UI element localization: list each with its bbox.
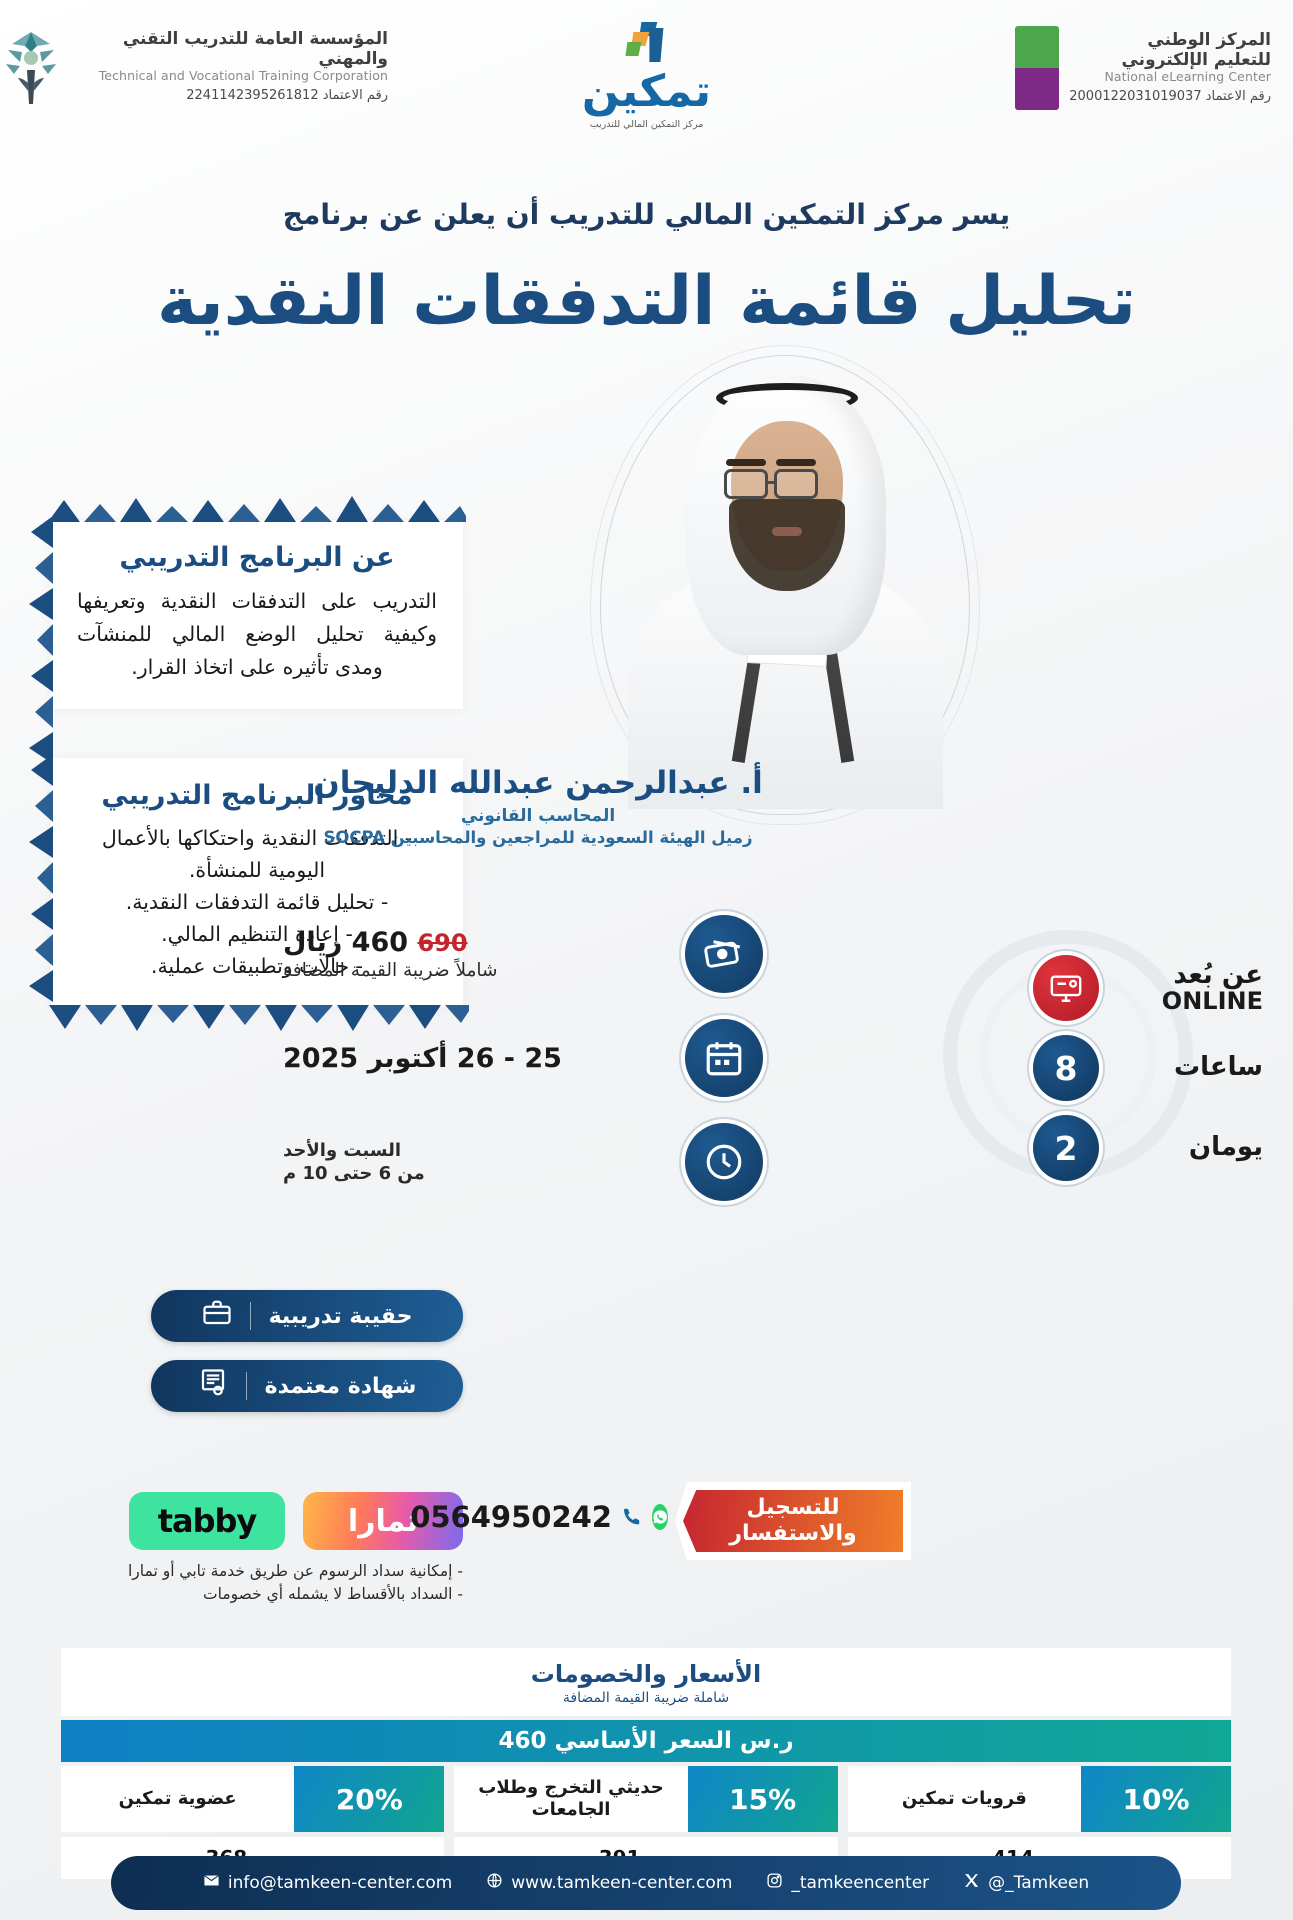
nelc-name-en: National eLearning Center (1069, 70, 1271, 84)
discount-value: 20% (294, 1766, 444, 1832)
nelc-logo-block: المركز الوطني للتعليم الإلكتروني Nationa… (1015, 26, 1271, 110)
footer-email[interactable]: info@tamkeen-center.com (203, 1872, 452, 1894)
tamkeen-wordmark: تمكين (582, 66, 711, 117)
training-kit-pill[interactable]: حقيبة تدريبية (151, 1290, 463, 1342)
tvtc-name-ar: المؤسسة العامة للتدريب التقني والمهني (72, 30, 388, 69)
phone-number[interactable]: 0564950242 (410, 1500, 612, 1534)
clock-icon (685, 1123, 763, 1201)
footer-instagram-handle: _tamkeencenter (791, 1873, 929, 1893)
badge-online-label: عن بُعد (1173, 960, 1263, 990)
badge-hours: ساعات 8 (1033, 1035, 1263, 1101)
trainer-name: أ. عبدالرحمن عبدالله الدليجان (303, 765, 773, 801)
price-table-subtitle: شاملة ضريبة القيمة المضافة (61, 1690, 1231, 1706)
footer-x-handle: @_Tamkeen (988, 1873, 1089, 1893)
footer-website[interactable]: www.tamkeen-center.com (486, 1872, 732, 1894)
envelope-icon (203, 1872, 220, 1894)
header: المؤسسة العامة للتدريب التقني والمهني Te… (0, 0, 1293, 150)
register-label-2: والاستفسار (729, 1521, 856, 1547)
badge-hours-label: ساعات (1113, 1054, 1263, 1081)
price-note: شاملاً ضريبة القيمة المضافة (283, 960, 669, 981)
program-details: 690 460 ريال شاملاً ضريبة القيمة المضافة… (283, 915, 763, 1227)
monitor-icon (1033, 955, 1099, 1021)
discount-value: 15% (688, 1766, 838, 1832)
trainer-organization: زميل الهيئة السعودية للمراجعين والمحاسبي… (303, 828, 773, 847)
register-button[interactable]: للتسجيل والاستفسار (683, 1490, 903, 1552)
briefcase-icon (202, 1298, 232, 1334)
price-old: 690 (417, 929, 467, 957)
tvtc-logo-block: المؤسسة العامة للتدريب التقني والمهني Te… (0, 26, 388, 108)
certificate-label: شهادة معتمدة (265, 1374, 417, 1399)
money-icon (685, 915, 763, 993)
page-title: تحليل قائمة التدفقات النقدية (0, 262, 1293, 341)
payment-options: تمارا tabby - إمكانية سداد الرسوم عن طري… (43, 1492, 463, 1607)
footer-x[interactable]: @_Tamkeen (963, 1872, 1089, 1894)
nelc-name-ar-2: للتعليم الإلكتروني (1069, 51, 1271, 71)
footer-instagram[interactable]: _tamkeencenter (766, 1872, 929, 1894)
riyal-symbol: ر.س (740, 1728, 794, 1754)
certificate-icon (198, 1368, 228, 1404)
tvtc-emblem-icon (0, 26, 62, 108)
tabby-logo[interactable]: tabby (129, 1492, 285, 1550)
price-new: 460 ريال (283, 927, 408, 958)
training-kit-label: حقيبة تدريبية (269, 1304, 413, 1329)
instagram-icon (766, 1872, 783, 1894)
about-heading: عن البرنامج التدريبي (77, 542, 437, 573)
certificate-pill[interactable]: شهادة معتمدة (151, 1360, 463, 1412)
time-days: السبت والأحد (283, 1139, 669, 1162)
badge-hours-value: 8 (1033, 1035, 1099, 1101)
payment-note: - السداد بالأقساط لا يشمله أي خصومات (43, 1583, 463, 1606)
date-row: 25 - 26 أكتوبر 2025 (283, 1019, 763, 1097)
price-row: 690 460 ريال شاملاً ضريبة القيمة المضافة (283, 915, 763, 993)
whatsapp-icon[interactable] (652, 1504, 668, 1530)
nelc-accreditation: رقم الاعتماد 2000122031019037 (1069, 90, 1271, 105)
tvtc-name-en: Technical and Vocational Training Corpor… (72, 69, 388, 83)
discount-name: حديثي التخرج وطلاب الجامعات (454, 1766, 687, 1832)
badge-days: يومان 2 (1033, 1115, 1263, 1181)
nelc-name-ar-1: المركز الوطني (1069, 31, 1271, 51)
zigzag-left-decoration-2 (19, 754, 53, 1004)
footer-website-url: www.tamkeen-center.com (511, 1873, 732, 1893)
nelc-emblem-icon (1015, 26, 1059, 110)
x-icon (963, 1872, 980, 1894)
calendar-icon (685, 1019, 763, 1097)
payment-note: - إمكانية سداد الرسوم عن طريق خدمة تابي … (43, 1560, 463, 1583)
phone-icon[interactable] (621, 1504, 643, 1530)
contact-phone[interactable]: 0564950242 (488, 1500, 668, 1534)
badge-days-value: 2 (1033, 1115, 1099, 1181)
footer-contact-bar: @_Tamkeen _tamkeencenter www.tamkeen-cen… (111, 1856, 1181, 1910)
discount-name: عضوية تمكين (61, 1766, 294, 1832)
about-program-card: عن البرنامج التدريبي التدريب على التدفقا… (51, 520, 463, 709)
date-value: 25 - 26 أكتوبر 2025 (283, 1043, 669, 1074)
badge-days-label: يومان (1113, 1134, 1263, 1161)
price-table: الأسعار والخصومات شاملة ضريبة القيمة الم… (61, 1648, 1231, 1879)
discount-value: 10% (1081, 1766, 1231, 1832)
price-table-title: الأسعار والخصومات (61, 1660, 1231, 1688)
badge-stack: عن بُعد ONLINE ساعات 8 يومان 2 (1033, 955, 1263, 1195)
trainer-photo (600, 355, 970, 815)
tamkeen-logo: تمكين مركز التمكين المالي للتدريب (582, 20, 711, 130)
discount-name: قرويات تمكين (848, 1766, 1081, 1832)
globe-icon (486, 1872, 503, 1894)
base-price-label: السعر الأساسي 460 (498, 1728, 731, 1754)
footer-email-address: info@tamkeen-center.com (228, 1873, 452, 1893)
about-body: التدريب على التدفقات النقدية وتعريفها وك… (77, 585, 437, 685)
zigzag-left-decoration (19, 516, 53, 766)
announcement-text: يسر مركز التمكين المالي للتدريب أن يعلن … (0, 198, 1293, 231)
register-label-1: للتسجيل (729, 1495, 856, 1521)
badge-online-label-en: ONLINE (1113, 989, 1263, 1014)
trainer-info: أ. عبدالرحمن عبدالله الدليجان المحاسب ال… (303, 765, 773, 847)
tvtc-accreditation: رقم الاعتماد 2241142395261812 (72, 89, 388, 104)
time-row: السبت والأحد من 6 حتى 10 م (283, 1123, 763, 1201)
time-hours: من 6 حتى 10 م (283, 1162, 669, 1185)
tamkeen-subtitle: مركز التمكين المالي للتدريب (582, 119, 711, 130)
badge-online: عن بُعد ONLINE (1033, 955, 1263, 1021)
zigzag-top-decoration (48, 490, 466, 522)
trainer-role: المحاسب القانوني (303, 806, 773, 826)
